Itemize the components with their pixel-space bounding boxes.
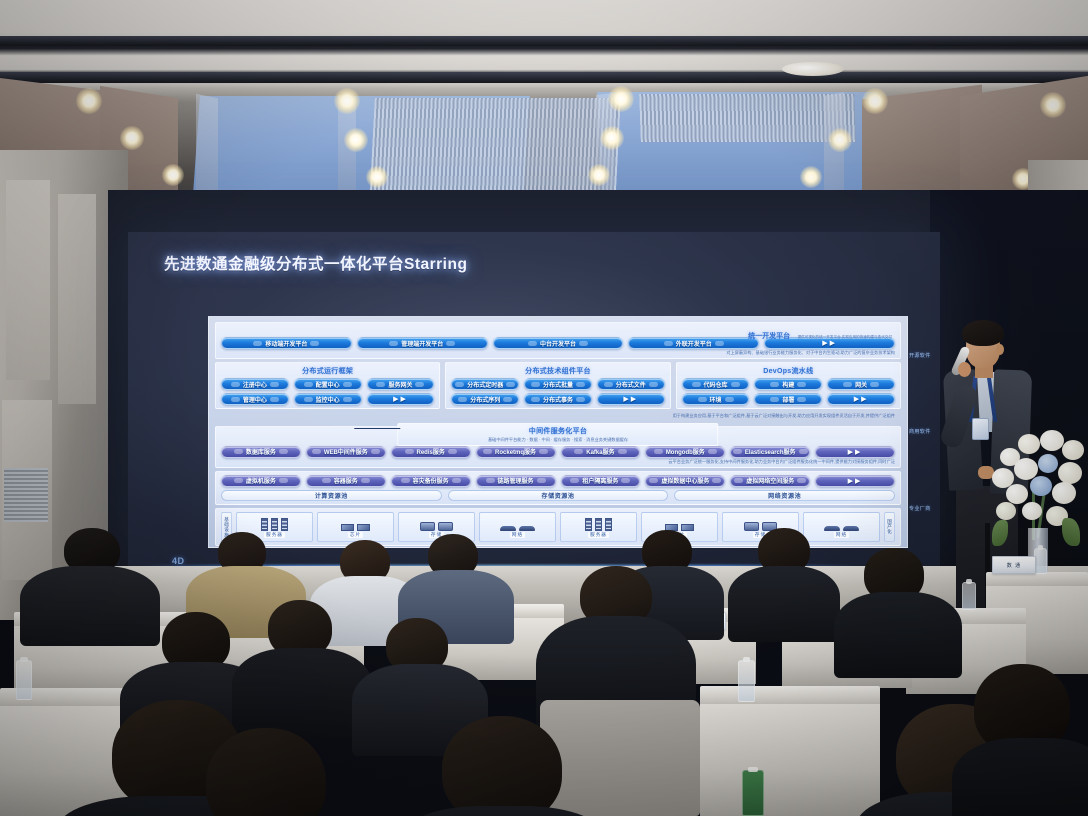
network-icon (519, 526, 535, 531)
side-tag-commercial: 商用软件 (909, 428, 931, 435)
btn-devops-more[interactable]: ▶▶ (827, 393, 895, 405)
btn-registry-center[interactable]: 注册中心 (221, 378, 289, 390)
middleware-header: 中间件服务化平台 (402, 426, 713, 436)
btn-code-repo[interactable]: 代码仓库 (682, 378, 750, 390)
runtime-framework-header: 分布式运行框架 (221, 366, 434, 376)
network-icon (843, 526, 859, 531)
server-rack-icon (281, 518, 288, 531)
btn-monitor-center[interactable]: 监控中心 (294, 393, 362, 405)
band-tech-components: 分布式技术组件平台 分布式定时器 分布式批量 分布式文件 分布式序列 分布式事务… (445, 362, 670, 409)
band-devops-pipeline: DevOps流水线 代码仓库 构建 网关 环境 部署 ▶▶ (676, 362, 901, 409)
btn-environment[interactable]: 环境 (682, 393, 750, 405)
btn-kafka-service[interactable]: Kafka服务 (561, 446, 641, 458)
btn-runtime-more[interactable]: ▶▶ (367, 393, 435, 405)
btn-external-dev-platform[interactable]: 外联开发平台 (628, 337, 759, 349)
stage-logo: 4D (172, 556, 185, 566)
server-rack-icon (605, 518, 612, 531)
bottle (742, 770, 764, 816)
band-runtime-framework: 分布式运行框架 注册中心 配置中心 服务网关 管理中心 监控中心 ▶▶ (215, 362, 440, 409)
resource-pool-row: 计算资源池 存储资源池 网络资源池 (221, 490, 895, 501)
bottle (16, 660, 32, 700)
audience-person (834, 548, 962, 668)
bottle (738, 660, 755, 702)
slide-side-tags: 开源软件 商用软件 专业厂商 (909, 317, 941, 547)
btn-virtual-network-service[interactable]: 虚拟网络空间服务 (730, 475, 810, 487)
btn-distributed-transaction[interactable]: 分布式事务 (524, 393, 592, 405)
btn-virtual-datacenter-service[interactable]: 虚拟数据中心服务 (645, 475, 725, 487)
btn-database-service[interactable]: 数据库服务 (221, 446, 301, 458)
chip-icon (341, 524, 354, 531)
chip-icon (357, 524, 370, 531)
btn-admin-dev-platform[interactable]: 管理端开发平台 (357, 337, 488, 349)
projection-screen: 先进数通金融级分布式一体化平台Starring 统一开发平台 提供可视化的统一开… (128, 232, 940, 570)
bottle (962, 582, 976, 610)
pool-compute: 计算资源池 (221, 490, 442, 501)
flower-arrangement (988, 420, 1088, 560)
dev-platform-footnote: 对上屏蔽异构、基础银行业务能力服务化、对于中台内生驱动,助力广泛的复杂业务技术架… (221, 350, 895, 355)
server-rack-icon (595, 518, 602, 531)
middleware-header-note: 基础中间件平台能力 · 数据 · 中间 · 缓存服务 · 搜索 · 消息业务关键… (402, 437, 713, 442)
middleware-footnote: 云平台业务广泛统一服务化,支持中间件服务化,助力业务中台内广泛组件服务化统一中间… (221, 459, 895, 464)
btn-mobile-dev-platform[interactable]: 移动端开发平台 (221, 337, 352, 349)
btn-web-middleware-service[interactable]: WEB中间件服务 (306, 446, 386, 458)
btn-management-center[interactable]: 管理中心 (221, 393, 289, 405)
speaker-badge (972, 418, 989, 440)
dev-platform-header-note: 提供可视化的统一开发平台,实现应用的快速构建与迭代交付 (798, 335, 892, 339)
btn-elasticsearch-service[interactable]: Elasticsearch服务 (730, 446, 810, 458)
btn-deploy[interactable]: 部署 (754, 393, 822, 405)
dev-platform-header: 统一开发平台 (748, 333, 790, 340)
btn-tenant-isolation-service[interactable]: 租户隔离服务 (561, 475, 641, 487)
btn-service-gateway[interactable]: 服务网关 (367, 378, 435, 390)
slide-title: 先进数通金融级分布式一体化平台Starring (164, 252, 467, 274)
audience-person (398, 716, 608, 816)
btn-virtualization-more[interactable]: ▶▶ (815, 475, 895, 487)
speaker-hair (962, 320, 1004, 346)
ceiling-fixture-icon (782, 62, 844, 76)
side-tag-opensource: 开源软件 (909, 352, 931, 359)
btn-dr-backup-service[interactable]: 容灾备份服务 (391, 475, 471, 487)
band-middleware: 中间件服务化平台 基础中间件平台能力 · 数据 · 中间 · 缓存服务 · 搜索… (215, 426, 901, 468)
nameplate: 数 通 (992, 556, 1036, 574)
hw-group-chip-1: 芯片 (317, 512, 394, 542)
btn-build[interactable]: 构建 (754, 378, 822, 390)
band-virtualization: 虚拟机服务 容器服务 容灾备份服务 链路管理服务 租户隔离服务 虚拟数据中心服务… (215, 471, 901, 505)
storage-icon (438, 522, 453, 531)
middleware-floating-header: 中间件服务化平台 基础中间件平台能力 · 数据 · 中间 · 缓存服务 · 搜索… (397, 423, 718, 446)
btn-rocketmq-service[interactable]: Rocketmq服务 (476, 446, 556, 458)
network-icon (500, 526, 516, 531)
band-unified-dev-platform: 统一开发平台 提供可视化的统一开发平台,实现应用的快速构建与迭代交付 移动端开发… (215, 322, 901, 359)
speaker-hand (958, 362, 971, 377)
storage-icon (420, 522, 435, 531)
slide-architecture-diagram: 统一开发平台 提供可视化的统一开发平台,实现应用的快速构建与迭代交付 移动端开发… (208, 316, 908, 548)
audience-person (728, 528, 840, 632)
audience-person (170, 728, 380, 816)
tech-components-header: 分布式技术组件平台 (451, 366, 664, 376)
btn-tech-components-more[interactable]: ▶▶ (597, 393, 665, 405)
btn-distributed-batch[interactable]: 分布式批量 (524, 378, 592, 390)
hw-label-server-2: 服务器 (588, 532, 609, 538)
middleware-connector-line (354, 428, 400, 430)
server-rack-icon (585, 518, 592, 531)
btn-mongodb-service[interactable]: Mongodb服务 (645, 446, 725, 458)
hw-label-chip-1: 芯片 (348, 532, 363, 538)
btn-distributed-sequence[interactable]: 分布式序列 (451, 393, 519, 405)
server-rack-icon (271, 518, 278, 531)
table-row (700, 686, 880, 706)
pool-storage: 存储资源池 (448, 490, 669, 501)
btn-redis-service[interactable]: Redis服务 (391, 446, 471, 458)
btn-config-center[interactable]: 配置中心 (294, 378, 362, 390)
btn-container-service[interactable]: 容器服务 (306, 475, 386, 487)
pool-network: 网络资源池 (674, 490, 895, 501)
btn-gateway[interactable]: 网关 (827, 378, 895, 390)
btn-distributed-file[interactable]: 分布式文件 (597, 378, 665, 390)
middle-band-row: 分布式运行框架 注册中心 配置中心 服务网关 管理中心 监控中心 ▶▶ (215, 362, 901, 409)
server-rack-icon (261, 518, 268, 531)
audience-person (952, 664, 1088, 816)
btn-link-management-service[interactable]: 链路管理服务 (476, 475, 556, 487)
devops-header: DevOps流水线 (682, 366, 895, 376)
btn-vm-service[interactable]: 虚拟机服务 (221, 475, 301, 487)
btn-distributed-scheduler[interactable]: 分布式定时器 (451, 378, 519, 390)
localization-side-label: 国产化 (884, 512, 895, 542)
framework-footnote: 用于构建业务应用,基于平台和广泛组件,基于云广泛对接触出与开发,助力应用开发实现… (215, 413, 901, 418)
btn-middleware-more[interactable]: ▶▶ (815, 446, 895, 458)
conference-photo-scene: 先进数通金融级分布式一体化平台Starring 统一开发平台 提供可视化的统一开… (0, 0, 1088, 816)
btn-midend-dev-platform[interactable]: 中台开发平台 (493, 337, 624, 349)
side-tag-vendor: 专业厂商 (909, 505, 931, 512)
